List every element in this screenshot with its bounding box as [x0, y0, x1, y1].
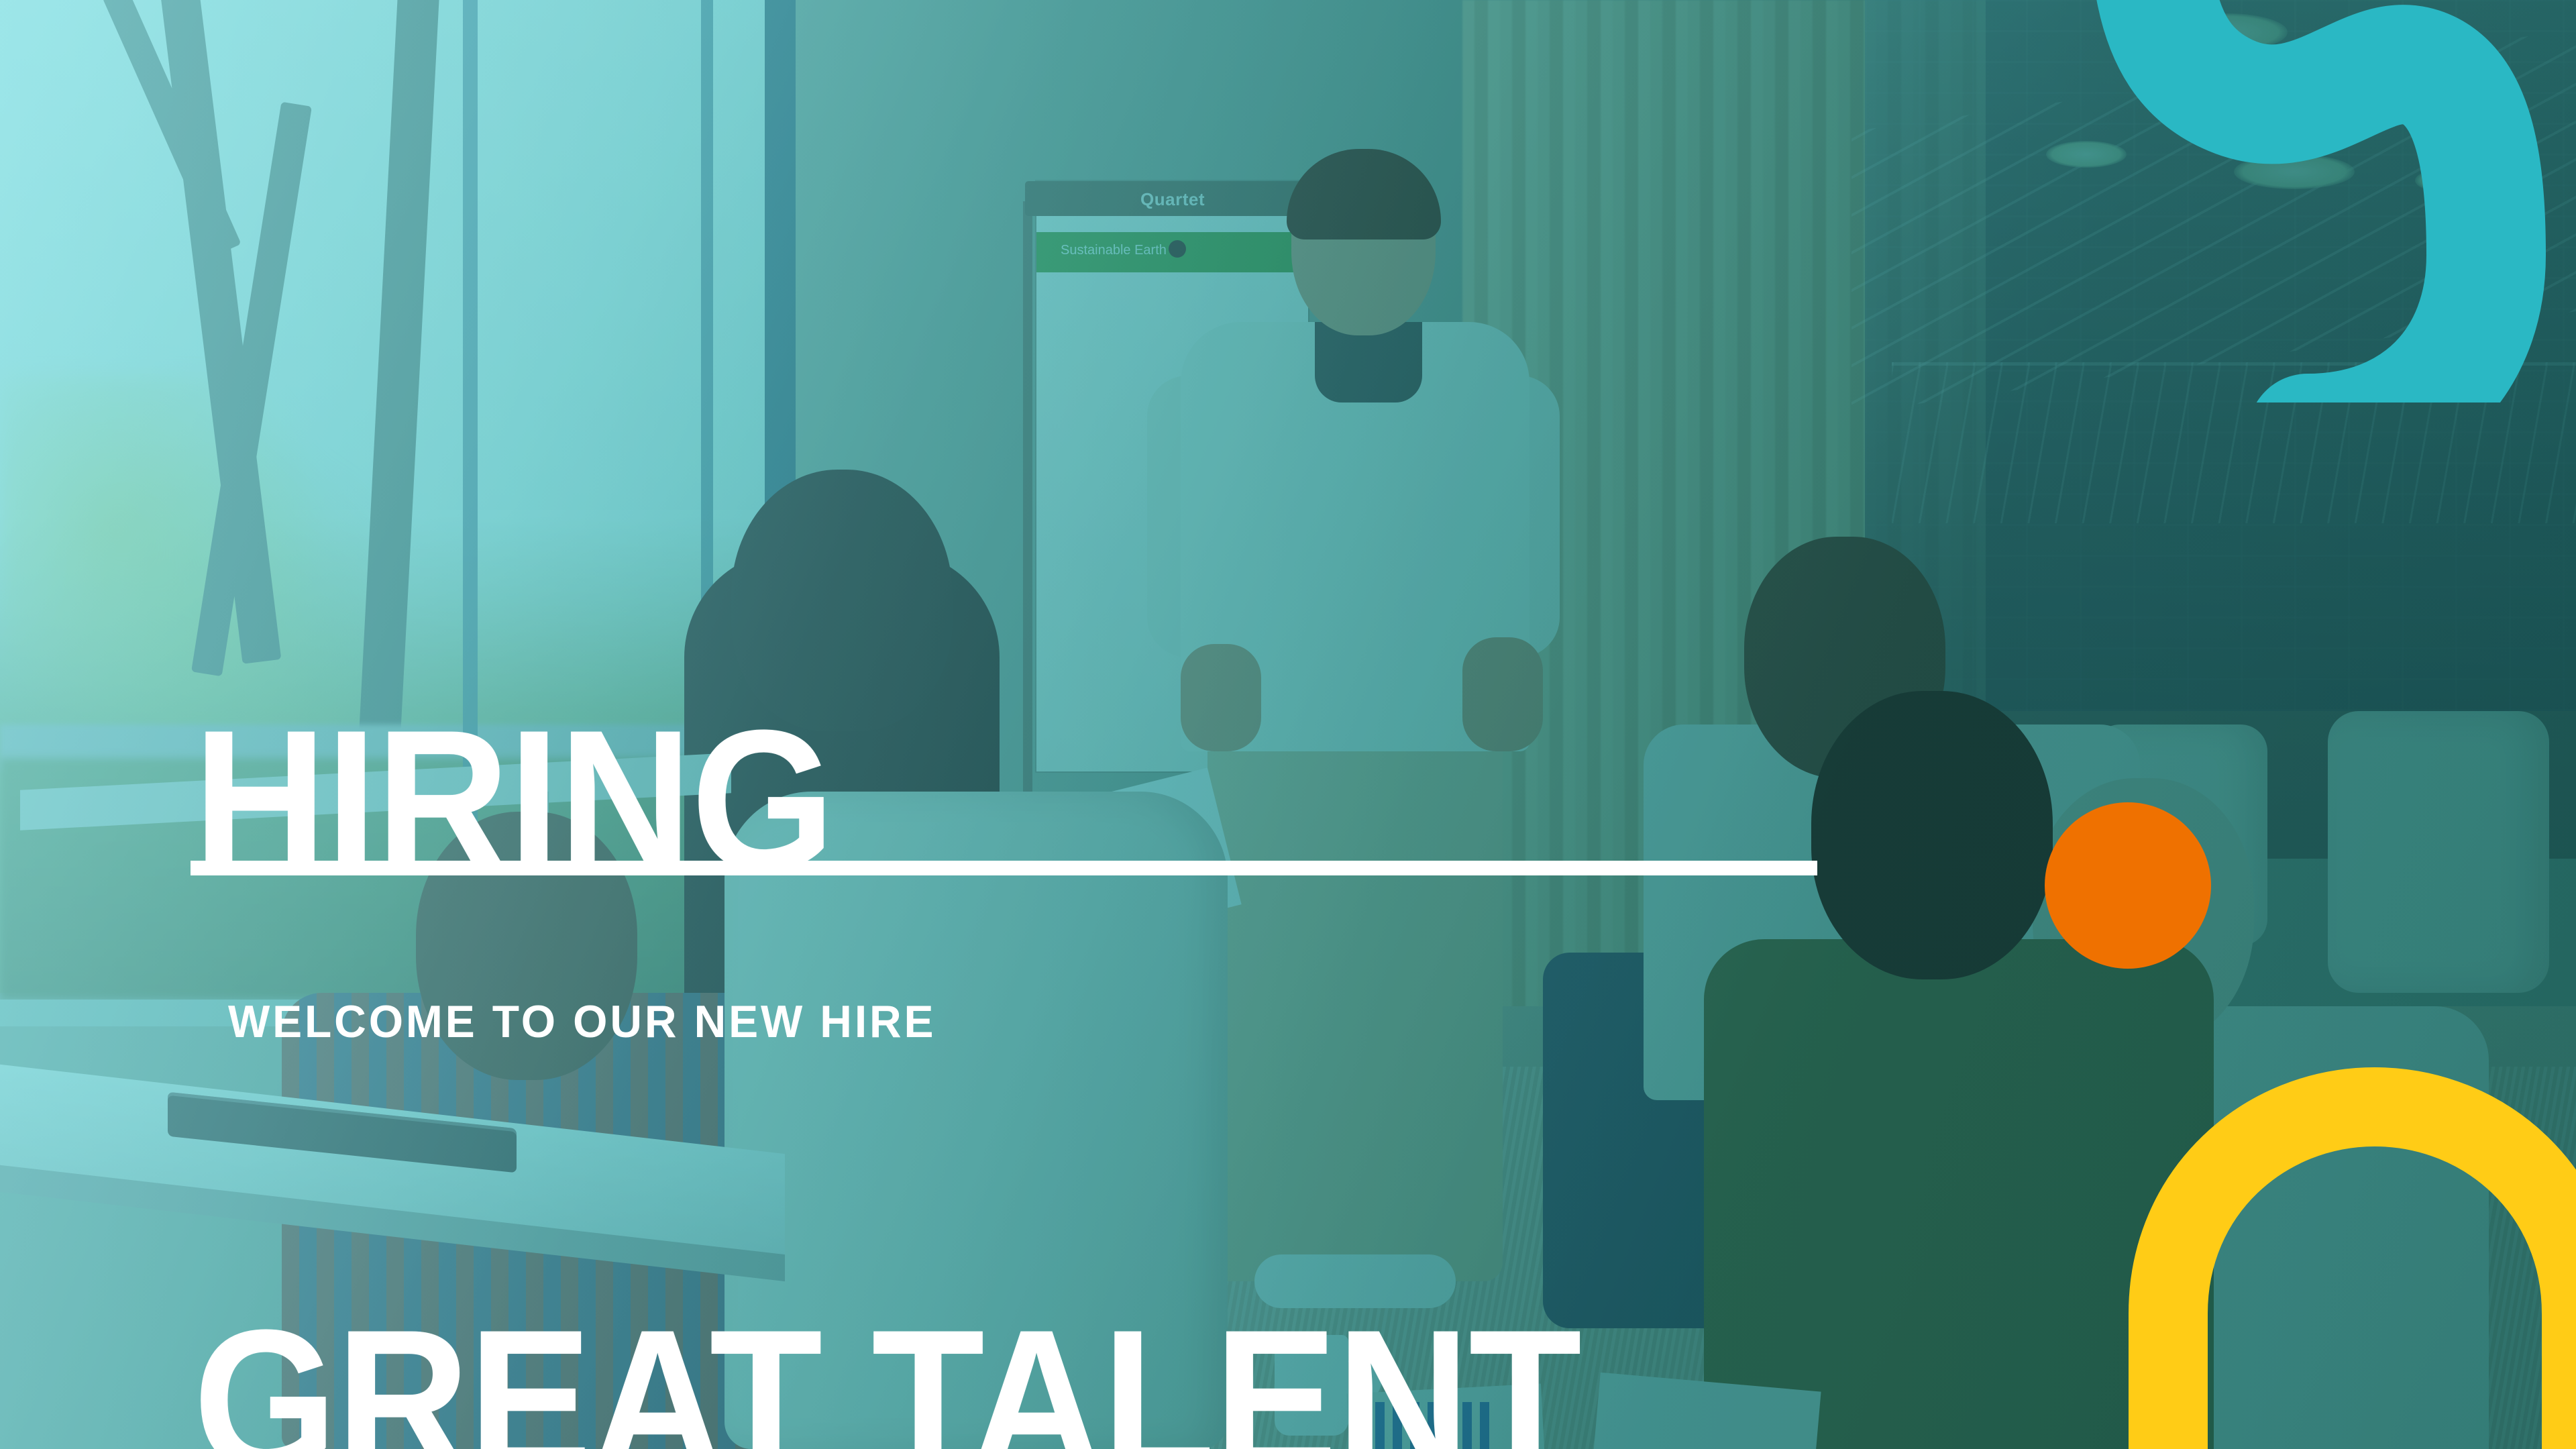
- banner-content: HIRING GREAT TALENT WELCOME TO OUR NEW H…: [0, 0, 2576, 1449]
- hiring-banner: Quartet Sustainable Earth: [0, 0, 2576, 1449]
- headline-line-2: GREAT TALENT: [193, 1300, 1580, 1449]
- divider-rule: [191, 861, 1817, 875]
- subtitle: WELCOME TO OUR NEW HIRE: [228, 996, 936, 1048]
